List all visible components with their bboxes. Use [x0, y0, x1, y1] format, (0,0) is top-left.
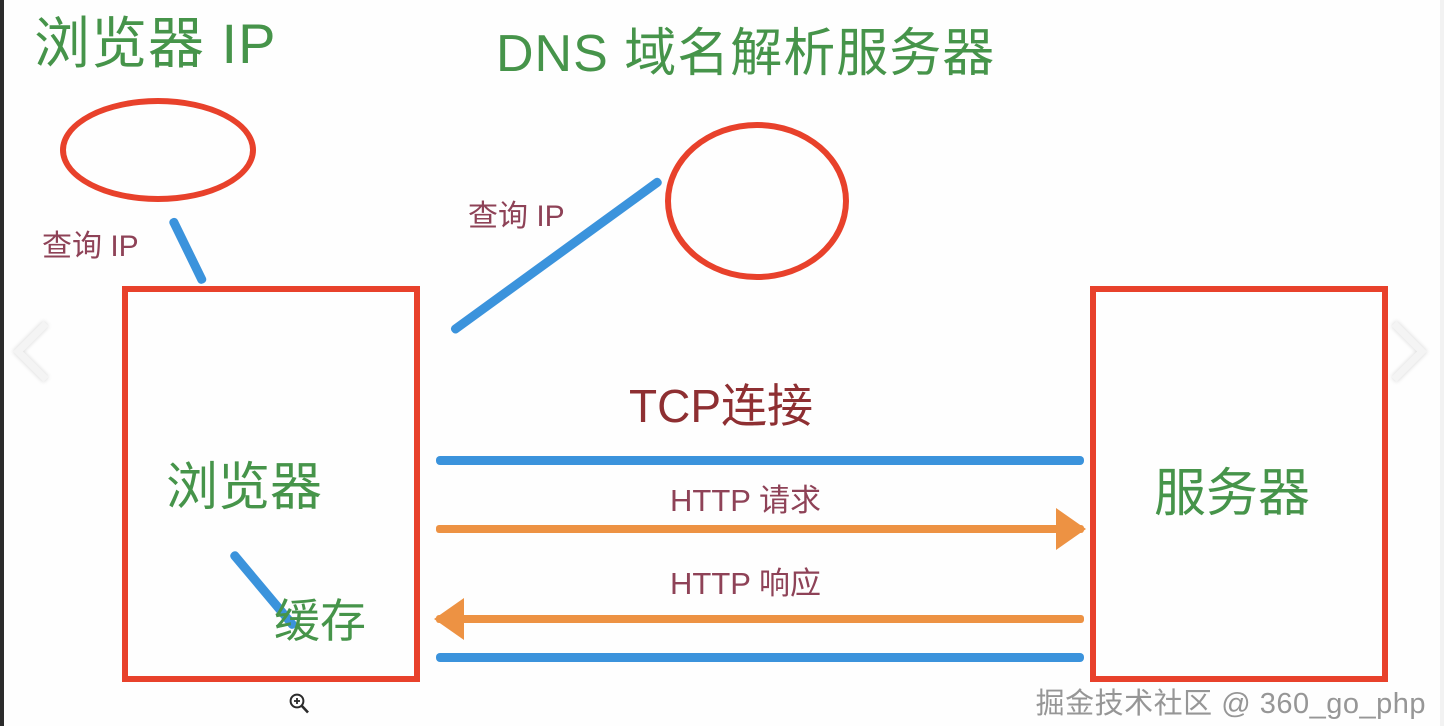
diagram-viewer: 浏览器 IP DNS 域名解析服务器 查询 IP 查询 IP 浏览器 缓存 服务…	[0, 0, 1444, 726]
browser-ip-title: 浏览器 IP	[34, 16, 276, 72]
dns-server-title: DNS 域名解析服务器	[496, 28, 995, 80]
browser-node-label: 浏览器	[166, 462, 322, 514]
viewer-right-edge-rail	[1440, 0, 1444, 726]
tcp-connection-line-top	[436, 456, 1084, 465]
cache-node-label: 缓存	[274, 598, 366, 644]
http-response-arrow-shaft	[436, 615, 1084, 623]
browser-ip-connector-line	[168, 217, 208, 286]
http-request-arrow-shaft	[436, 525, 1084, 533]
query-ip-dns-label: 查询 IP	[468, 202, 565, 232]
query-ip-local-label: 查询 IP	[42, 232, 139, 262]
http-request-arrow-head-icon	[1056, 508, 1086, 550]
dns-server-ellipse-shape	[665, 122, 849, 280]
http-response-label: HTTP 响应	[670, 568, 821, 599]
server-node-label: 服务器	[1154, 468, 1310, 520]
http-request-label: HTTP 请求	[670, 485, 821, 516]
zoom-in-cursor-icon	[288, 692, 312, 716]
browser-ip-ellipse-shape	[60, 98, 256, 202]
chevron-left-icon[interactable]	[13, 321, 74, 382]
watermark-text: 掘金技术社区 @ 360_go_php	[1036, 680, 1426, 722]
http-response-arrow-head-icon	[434, 598, 464, 640]
tcp-connection-label: TCP连接	[629, 383, 813, 429]
tcp-connection-line-bottom	[436, 653, 1084, 662]
diagram-canvas: 浏览器 IP DNS 域名解析服务器 查询 IP 查询 IP 浏览器 缓存 服务…	[4, 0, 1440, 726]
